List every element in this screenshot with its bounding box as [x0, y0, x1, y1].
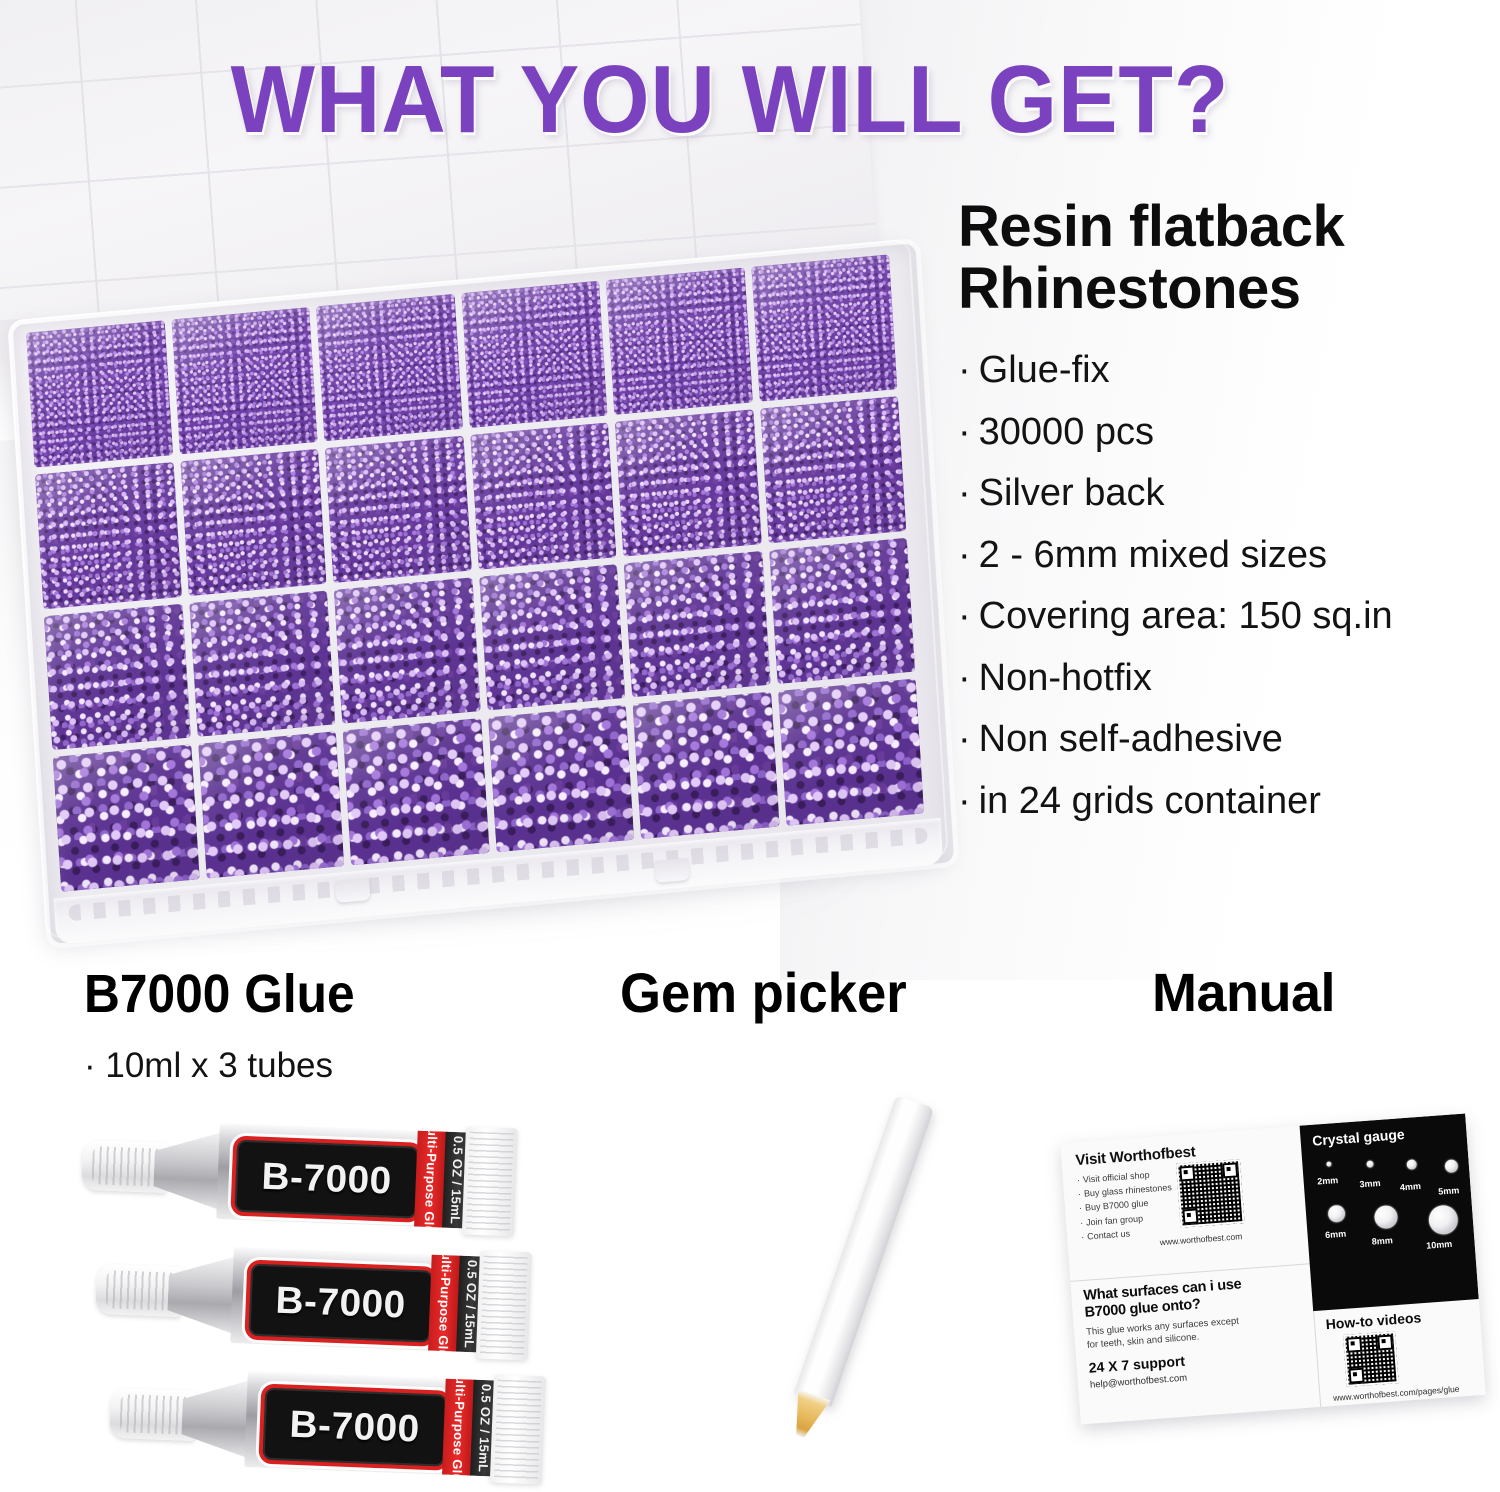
gem-sample-4mm: [1406, 1159, 1417, 1170]
list-item: ·2 - 6mm mixed sizes: [958, 525, 1498, 587]
tube-shoulder: [153, 1129, 226, 1212]
bullet-text: Non self-adhesive: [979, 718, 1283, 760]
tube-brand-plate: B-7000: [244, 1260, 437, 1347]
tube-shoulder: [181, 1377, 254, 1460]
list-item: ·in 24 grids container: [958, 771, 1498, 833]
feature-block: Resin flatback Rhinestones ·Glue-fix ·30…: [958, 196, 1498, 832]
gem-label: 10mm: [1426, 1239, 1453, 1251]
tube-purpose-label: Multi-Purpose Glue: [435, 1247, 455, 1353]
manual-card: Visit Worthofbest ·Visit official shop ·…: [1060, 1114, 1486, 1425]
tube-purpose-label: Multi-Purpose Glue: [421, 1123, 441, 1229]
bullet-text: Covering area: 150 sq.in: [979, 595, 1393, 637]
bullet-marker: ·: [958, 349, 971, 391]
gem-label: 8mm: [1371, 1235, 1393, 1247]
grid-cell: [769, 537, 915, 684]
glue-section-subtext: · 10ml x 3 tubes: [84, 1046, 333, 1086]
glue-section-heading: B7000 Glue: [84, 963, 355, 1025]
box-grid: [26, 254, 924, 891]
gem-sample-6mm: [1327, 1205, 1345, 1223]
tube-purpose-label: Multi-Purpose Glue: [449, 1371, 469, 1477]
gem-sample-8mm: [1373, 1205, 1398, 1230]
page-title: WHAT YOU WILL GET?: [51, 52, 1409, 148]
grid-cell: [461, 281, 607, 428]
tube-brand-label: B-7000: [275, 1279, 407, 1327]
grid-cell: [334, 577, 480, 724]
manual-section-heading: Manual: [1152, 962, 1335, 1024]
gem-sample-2mm: [1326, 1161, 1331, 1166]
bullet-marker: ·: [958, 534, 971, 576]
tube-body: B-7000 CLEAR Multi-Purpose Glue 0.5 OZ /…: [230, 1247, 485, 1353]
tube-body: B-7000 CLEAR Multi-Purpose Glue 0.5 OZ /…: [216, 1123, 471, 1229]
gem-label: 6mm: [1325, 1229, 1347, 1241]
grid-cell: [633, 692, 779, 839]
grid-cell: [189, 590, 335, 737]
bullet-marker: ·: [958, 780, 971, 822]
tube-crimp-seal: [462, 1126, 518, 1236]
grid-cell: [180, 449, 326, 596]
tube-brand-plate: B-7000: [258, 1384, 451, 1471]
feature-heading: Resin flatback Rhinestones: [958, 196, 1498, 320]
grid-cell: [316, 294, 462, 441]
grid-cell: [44, 603, 190, 750]
bullet-text: Non-hotfix: [979, 657, 1152, 699]
grid-cell: [26, 320, 172, 467]
bullet-text: 2 - 6mm mixed sizes: [979, 534, 1327, 576]
box-latch: [655, 858, 690, 883]
gem-sample-10mm: [1427, 1204, 1458, 1235]
feature-bullet-list: ·Glue-fix ·30000 pcs ·Silver back ·2 - 6…: [958, 340, 1498, 832]
rhinestone-box: [0, 229, 989, 977]
qr-code-shop[interactable]: [1176, 1159, 1245, 1228]
grid-cell: [470, 422, 616, 569]
videos-heading: How-to videos: [1325, 1305, 1480, 1332]
bullet-marker: ·: [958, 718, 971, 760]
bullet-text: Glue-fix: [979, 349, 1110, 391]
bullet-text: in 24 grids container: [979, 780, 1321, 822]
glue-tube: B-7000 CLEAR Multi-Purpose Glue 0.5 OZ /…: [108, 1358, 542, 1486]
tube-crimp-seal: [490, 1374, 546, 1484]
grid-cell: [325, 435, 471, 582]
infographic-canvas: WHAT YOU WILL GET?: [0, 0, 1500, 1492]
qr-code-videos[interactable]: [1343, 1331, 1399, 1387]
grid-cell: [760, 396, 906, 543]
crystal-gauge-panel: Crystal gauge 2mm 3mm 4mm 5mm 6mm 8mm 10…: [1299, 1114, 1479, 1312]
glue-tube: B-7000 CLEAR Multi-Purpose Glue 0.5 OZ /…: [80, 1110, 514, 1238]
picker-section-heading: Gem picker: [620, 960, 907, 1025]
bullet-marker: ·: [958, 411, 971, 453]
list-item: ·Covering area: 150 sq.in: [958, 586, 1498, 648]
list-item: ·Non self-adhesive: [958, 709, 1498, 771]
feature-heading-line2: Rhinestones: [958, 256, 1301, 321]
bullet-text: 30000 pcs: [979, 411, 1154, 453]
feature-heading-line1: Resin flatback: [958, 194, 1344, 259]
glue-tube: B-7000 CLEAR Multi-Purpose Glue 0.5 OZ /…: [94, 1234, 528, 1362]
picker-shaft: [794, 1095, 935, 1407]
grid-cell: [479, 564, 625, 711]
grid-cell: [198, 732, 344, 879]
gem-label: 5mm: [1438, 1185, 1460, 1197]
grid-cell: [778, 679, 924, 826]
grid-cell: [53, 745, 199, 892]
tube-crimp-seal: [476, 1250, 532, 1360]
tube-brand-plate: B-7000: [230, 1136, 423, 1223]
grid-cell: [624, 550, 770, 697]
grid-cell: [751, 254, 897, 401]
tube-brand-label: B-7000: [289, 1403, 421, 1451]
grid-cell: [488, 705, 634, 852]
visit-item-text: Contact us: [1087, 1228, 1131, 1241]
gem-sample-5mm: [1444, 1159, 1458, 1173]
card-surfaces-panel: What surfaces can i use B7000 glue onto?…: [1070, 1264, 1319, 1425]
list-item: ·Glue-fix: [958, 340, 1498, 402]
tube-shoulder: [167, 1253, 240, 1336]
list-item: ·30000 pcs: [958, 402, 1498, 464]
gem-label: 4mm: [1400, 1181, 1422, 1193]
gem-label: 2mm: [1317, 1175, 1339, 1187]
bullet-text: Silver back: [979, 472, 1165, 514]
bullet-marker: ·: [958, 657, 971, 699]
gem-picker-tool: [782, 1095, 934, 1441]
tube-body: B-7000 CLEAR Multi-Purpose Glue 0.5 OZ /…: [244, 1371, 499, 1477]
grid-cell: [343, 718, 489, 865]
list-item: ·Silver back: [958, 463, 1498, 525]
gem-sample-3mm: [1366, 1160, 1373, 1167]
list-item: ·Non-hotfix: [958, 648, 1498, 710]
box-latch: [335, 878, 370, 903]
bullet-marker: ·: [958, 595, 971, 637]
bullet-marker: ·: [958, 472, 971, 514]
card-visit-panel: Visit Worthofbest ·Visit official shop ·…: [1060, 1126, 1309, 1281]
visit-item-text: Join fan group: [1086, 1213, 1144, 1227]
grid-cell: [171, 307, 317, 454]
grid-cell: [615, 409, 761, 556]
card-videos-panel: How-to videos www.worthofbest.com/pages/…: [1313, 1299, 1486, 1407]
tube-brand-label: B-7000: [261, 1155, 393, 1203]
grid-cell: [606, 268, 752, 415]
gem-label: 3mm: [1359, 1178, 1381, 1190]
grid-cell: [35, 462, 181, 609]
